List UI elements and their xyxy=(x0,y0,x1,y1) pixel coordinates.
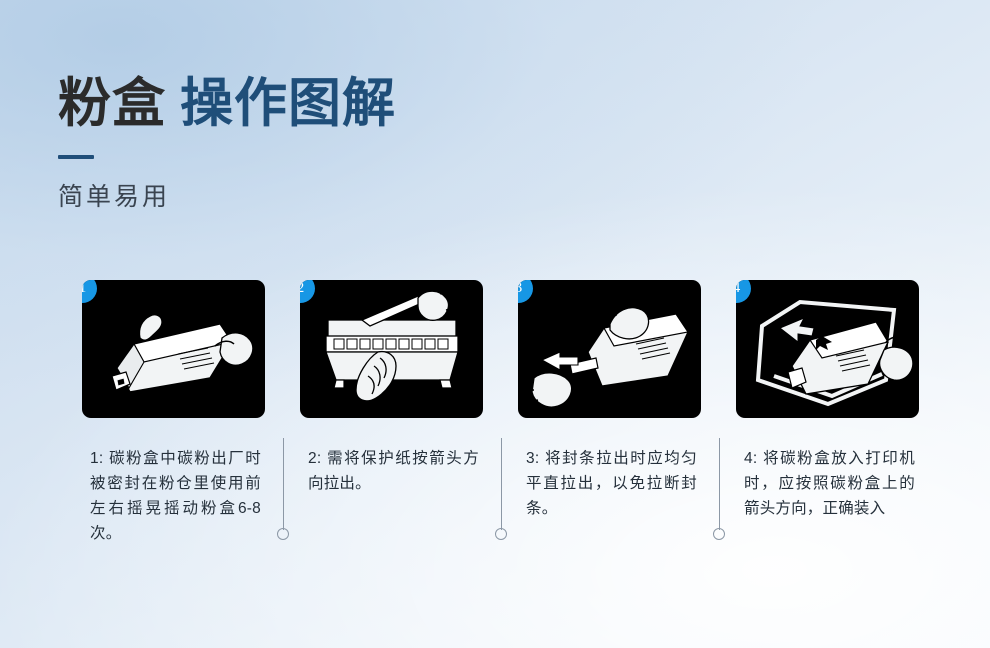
step-illustration-panel: 1 xyxy=(82,280,265,418)
header: 粉盒操作图解 简单易用 xyxy=(58,74,758,213)
page-title-secondary: 操作图解 xyxy=(180,74,396,133)
step-item: 3 xyxy=(518,280,701,546)
page-subtitle: 简单易用 xyxy=(58,177,758,213)
insert-cartridge-icon xyxy=(736,280,919,418)
poster-root: 粉盒操作图解 简单易用 1 xyxy=(0,0,990,648)
connector-line xyxy=(501,438,502,530)
step-caption: 3: 将封条拉出时应均匀平直拉出，以免拉断封条。 xyxy=(518,446,701,521)
steps-container: 1 xyxy=(82,280,927,546)
step-connector xyxy=(495,438,507,542)
connector-dot xyxy=(277,528,289,540)
connector-dot xyxy=(713,528,725,540)
step-connector xyxy=(277,438,289,542)
pull-seal-strip-icon xyxy=(518,280,701,418)
pull-protective-paper-icon xyxy=(300,280,483,418)
step-connector xyxy=(713,438,725,542)
step-illustration-panel: 4 xyxy=(736,280,919,418)
step-item: 1 xyxy=(82,280,265,546)
step-caption: 4: 将碳粉盒放入打印机时，应按照碳粉盒上的箭头方向，正确装入 xyxy=(736,446,919,521)
connector-line xyxy=(719,438,720,530)
page-title: 粉盒操作图解 xyxy=(58,74,758,133)
connector-line xyxy=(283,438,284,530)
step-illustration-panel: 3 xyxy=(518,280,701,418)
page-title-primary: 粉盒 xyxy=(58,74,166,133)
step-caption: 1: 碳粉盒中碳粉出厂时被密封在粉仓里使用前左右摇晃摇动粉盒6-8次。 xyxy=(82,446,265,546)
connector-dot xyxy=(495,528,507,540)
title-divider xyxy=(58,155,94,159)
step-illustration-panel: 2 xyxy=(300,280,483,418)
step-caption: 2: 需将保护纸按箭头方向拉出。 xyxy=(300,446,483,496)
step-item: 4 xyxy=(736,280,919,546)
step-item: 2 xyxy=(300,280,483,546)
shake-cartridge-icon xyxy=(82,280,265,418)
